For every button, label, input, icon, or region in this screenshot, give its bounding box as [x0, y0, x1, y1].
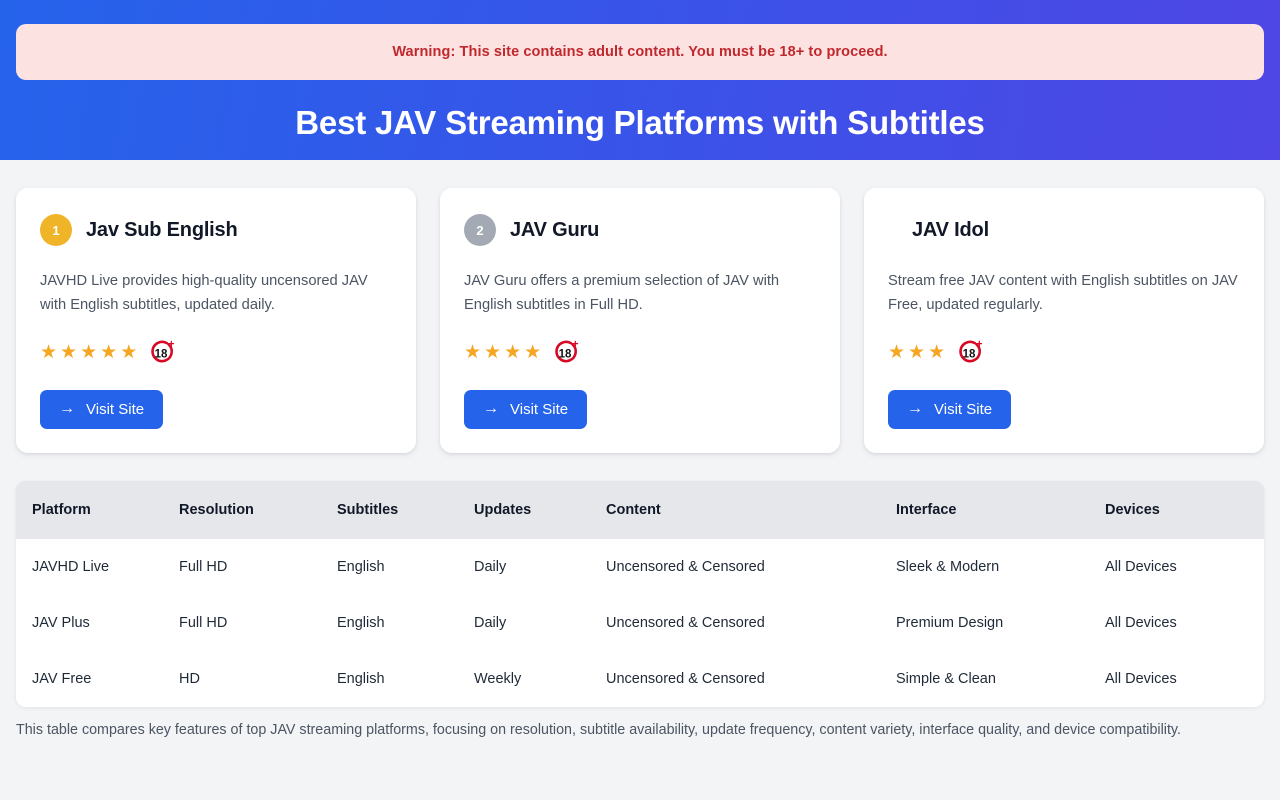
table-caption: This table compares key features of top …: [16, 719, 1231, 742]
card-description: Stream free JAV content with English sub…: [888, 270, 1240, 318]
star-rating: ★★★★★: [40, 343, 137, 362]
table-cell: All Devices: [1105, 651, 1264, 707]
visit-site-button[interactable]: →Visit Site: [888, 390, 1011, 429]
column-header[interactable]: Resolution: [179, 481, 337, 539]
table-cell: Uncensored & Censored: [606, 539, 896, 595]
table-cell: English: [337, 651, 474, 707]
svg-text:+: +: [976, 338, 982, 350]
column-header[interactable]: Content: [606, 481, 896, 539]
table-cell: JAV Free: [16, 651, 179, 707]
star-icon: ★: [504, 343, 521, 362]
comparison-table: PlatformResolutionSubtitlesUpdatesConten…: [16, 481, 1264, 707]
table-cell: Daily: [474, 595, 606, 651]
page-title: Best JAV Streaming Platforms with Subtit…: [16, 104, 1264, 142]
column-header[interactable]: Platform: [16, 481, 179, 539]
arrow-right-icon: →: [483, 401, 499, 417]
visit-site-label: Visit Site: [510, 401, 568, 418]
card-header: 1Jav Sub English: [40, 212, 392, 248]
age-restriction-18-plus-icon: 18+: [955, 338, 985, 368]
platform-cards-row: 1Jav Sub EnglishJAVHD Live provides high…: [0, 160, 1280, 453]
table-cell: Uncensored & Censored: [606, 651, 896, 707]
table-cell: Weekly: [474, 651, 606, 707]
visit-site-label: Visit Site: [86, 401, 144, 418]
star-icon: ★: [484, 343, 501, 362]
star-icon: ★: [928, 343, 945, 362]
platform-card[interactable]: 1Jav Sub EnglishJAVHD Live provides high…: [16, 188, 416, 453]
table-cell: All Devices: [1105, 539, 1264, 595]
svg-text:+: +: [572, 338, 578, 350]
svg-text:18: 18: [155, 348, 168, 360]
platform-card[interactable]: JAV IdolStream free JAV content with Eng…: [864, 188, 1264, 453]
svg-text:18: 18: [559, 348, 572, 360]
age-restriction-18-plus-icon: 18+: [551, 338, 581, 368]
card-description: JAVHD Live provides high-quality uncenso…: [40, 270, 392, 318]
star-icon: ★: [80, 343, 97, 362]
table-cell: JAV Plus: [16, 595, 179, 651]
table-cell: Uncensored & Censored: [606, 595, 896, 651]
star-icon: ★: [524, 343, 541, 362]
star-rating: ★★★: [888, 343, 945, 362]
adult-content-warning-banner: Warning: This site contains adult conten…: [16, 24, 1264, 80]
rank-badge: 1: [40, 214, 72, 246]
rank-badge: 2: [464, 214, 496, 246]
column-header[interactable]: Updates: [474, 481, 606, 539]
visit-site-button[interactable]: →Visit Site: [464, 390, 587, 429]
table-cell: Premium Design: [896, 595, 1105, 651]
age-restriction-18-plus-icon: 18+: [147, 338, 177, 368]
svg-text:+: +: [168, 338, 174, 350]
table-body: JAVHD LiveFull HDEnglishDailyUncensored …: [16, 539, 1264, 707]
card-description: JAV Guru offers a premium selection of J…: [464, 270, 816, 318]
svg-text:18: 18: [963, 348, 976, 360]
platform-card[interactable]: 2JAV GuruJAV Guru offers a premium selec…: [440, 188, 840, 453]
table-cell: JAVHD Live: [16, 539, 179, 595]
rating-row: ★★★★18+: [464, 338, 816, 368]
star-icon: ★: [40, 343, 57, 362]
table-row: JAV FreeHDEnglishWeeklyUncensored & Cens…: [16, 651, 1264, 707]
star-rating: ★★★★: [464, 343, 541, 362]
card-title: Jav Sub English: [86, 219, 237, 242]
table-row: JAVHD LiveFull HDEnglishDailyUncensored …: [16, 539, 1264, 595]
table-cell: HD: [179, 651, 337, 707]
star-icon: ★: [120, 343, 137, 362]
rating-row: ★★★18+: [888, 338, 1240, 368]
table-row: JAV PlusFull HDEnglishDailyUncensored & …: [16, 595, 1264, 651]
comparison-table-container: PlatformResolutionSubtitlesUpdatesConten…: [16, 481, 1264, 707]
star-icon: ★: [888, 343, 905, 362]
visit-site-button[interactable]: →Visit Site: [40, 390, 163, 429]
star-icon: ★: [60, 343, 77, 362]
card-header: 2JAV Guru: [464, 212, 816, 248]
table-cell: Full HD: [179, 595, 337, 651]
arrow-right-icon: →: [907, 401, 923, 417]
table-cell: English: [337, 539, 474, 595]
card-title: JAV Guru: [510, 219, 599, 242]
visit-site-label: Visit Site: [934, 401, 992, 418]
table-cell: Simple & Clean: [896, 651, 1105, 707]
column-header[interactable]: Devices: [1105, 481, 1264, 539]
table-cell: Full HD: [179, 539, 337, 595]
table-header: PlatformResolutionSubtitlesUpdatesConten…: [16, 481, 1264, 539]
star-icon: ★: [100, 343, 117, 362]
arrow-right-icon: →: [59, 401, 75, 417]
rating-row: ★★★★★18+: [40, 338, 392, 368]
table-cell: All Devices: [1105, 595, 1264, 651]
table-cell: English: [337, 595, 474, 651]
table-cell: Sleek & Modern: [896, 539, 1105, 595]
star-icon: ★: [464, 343, 481, 362]
card-title: JAV Idol: [912, 219, 989, 242]
star-icon: ★: [908, 343, 925, 362]
page-header: Warning: This site contains adult conten…: [0, 0, 1280, 160]
table-header-row: PlatformResolutionSubtitlesUpdatesConten…: [16, 481, 1264, 539]
warning-text: Warning: This site contains adult conten…: [392, 44, 887, 60]
column-header[interactable]: Interface: [896, 481, 1105, 539]
card-header: JAV Idol: [888, 212, 1240, 248]
table-cell: Daily: [474, 539, 606, 595]
column-header[interactable]: Subtitles: [337, 481, 474, 539]
